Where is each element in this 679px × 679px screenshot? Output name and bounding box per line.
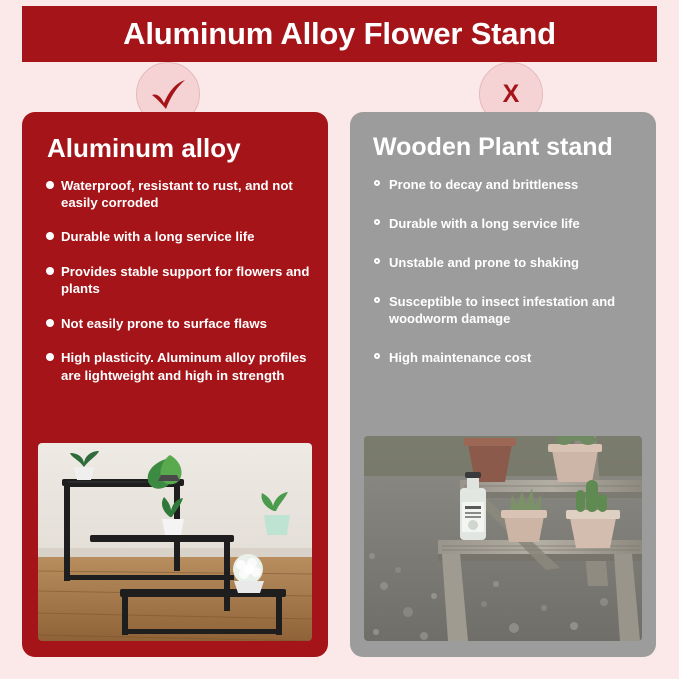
cross-icon: X (503, 82, 520, 107)
list-item-label: High maintenance cost (389, 350, 531, 365)
list-item-label: Provides stable support for flowers and … (61, 264, 309, 296)
list-item-label: Prone to decay and brittleness (389, 177, 578, 192)
list-item-label: Waterproof, resistant to rust, and not e… (61, 178, 293, 210)
list-item-label: Unstable and prone to shaking (389, 255, 579, 270)
list-item: Prone to decay and brittleness (374, 176, 640, 193)
bullet-ring-icon (374, 297, 380, 303)
list-item: Durable with a long service life (46, 228, 312, 245)
panel-aluminum-list: Waterproof, resistant to rust, and not e… (38, 177, 312, 384)
panel-aluminum-title: Aluminum alloy (47, 134, 312, 163)
panel-wooden-title: Wooden Plant stand (373, 134, 640, 162)
list-item: Durable with a long service life (374, 215, 640, 232)
list-item: Unstable and prone to shaking (374, 254, 640, 271)
bullet-dot-icon (46, 319, 54, 327)
bullet-ring-icon (374, 353, 380, 359)
list-item: High plasticity. Aluminum alloy profiles… (46, 349, 312, 384)
photo-wooden-stand (364, 436, 642, 641)
list-item: Waterproof, resistant to rust, and not e… (46, 177, 312, 212)
photo-aluminum-stand (38, 443, 312, 641)
wooden-stand-image (364, 436, 642, 641)
list-item: High maintenance cost (374, 349, 640, 366)
list-item: Provides stable support for flowers and … (46, 263, 312, 298)
list-item: Susceptible to insect infestation and wo… (374, 293, 640, 327)
panel-wooden-list: Prone to decay and brittleness Durable w… (366, 176, 640, 367)
bullet-dot-icon (46, 267, 54, 275)
bullet-ring-icon (374, 258, 380, 264)
comparison-infographic: Aluminum Alloy Flower Stand X Aluminum a… (0, 0, 679, 679)
list-item-label: High plasticity. Aluminum alloy profiles… (61, 350, 306, 382)
bullet-dot-icon (46, 232, 54, 240)
list-item-label: Durable with a long service life (61, 229, 254, 244)
bullet-ring-icon (374, 180, 380, 186)
bullet-dot-icon (46, 181, 54, 189)
list-item-label: Susceptible to insect infestation and wo… (389, 294, 615, 326)
aluminum-stand-image (38, 443, 312, 641)
list-item-label: Not easily prone to surface flaws (61, 316, 267, 331)
bullet-ring-icon (374, 219, 380, 225)
header-banner: Aluminum Alloy Flower Stand (22, 6, 657, 62)
check-icon (148, 78, 188, 110)
list-item: Not easily prone to surface flaws (46, 315, 312, 332)
page-title: Aluminum Alloy Flower Stand (123, 16, 556, 52)
bullet-dot-icon (46, 353, 54, 361)
list-item-label: Durable with a long service life (389, 216, 580, 231)
